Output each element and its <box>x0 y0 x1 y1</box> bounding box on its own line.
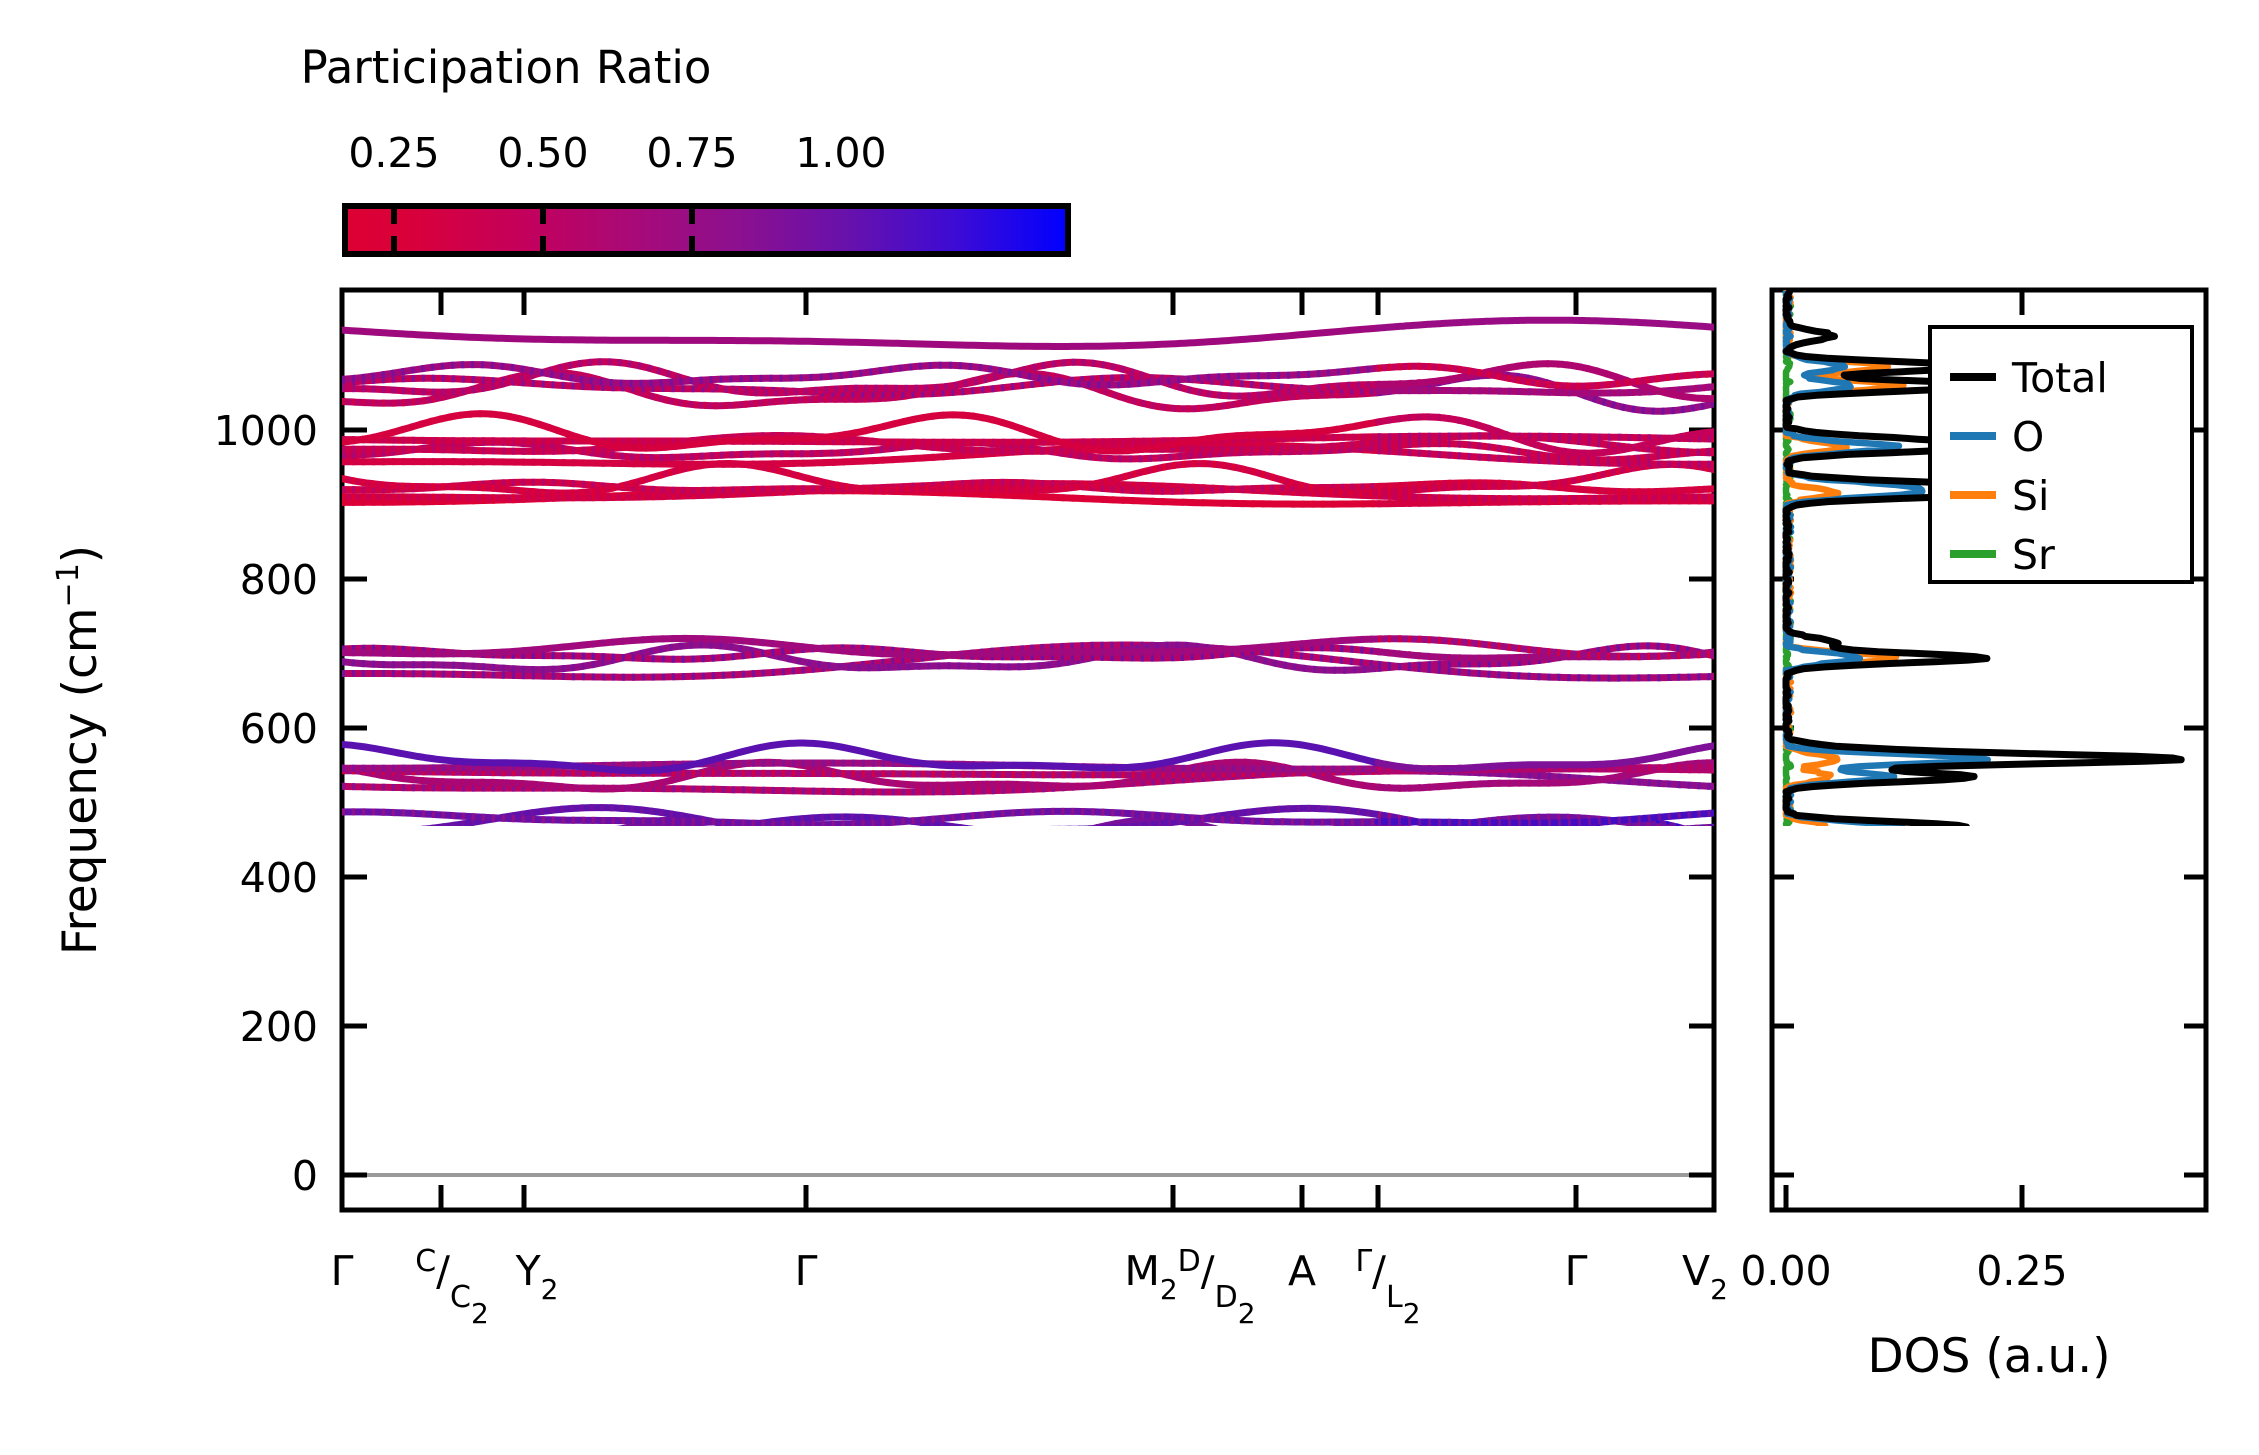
xtick-c-c2: C/C2 <box>415 1244 489 1330</box>
band-ylabel-tail: ) <box>53 545 108 563</box>
xtick-m2-d-d2: M2D/D2 <box>1124 1244 1255 1330</box>
dos-legend[interactable]: Total O Si Sr <box>1930 327 2192 582</box>
colorbar-tick-0: 0.25 <box>348 129 439 177</box>
band-ylabel-sup: −1 <box>51 563 86 607</box>
band-x-ticklabels: Γ C/C2 Y2 Γ M2D/D2 A Γ/L2 Γ V2 <box>331 1244 1728 1330</box>
colorbar-tick-2: 0.75 <box>646 129 737 177</box>
xtick-gamma-2: Γ <box>795 1247 818 1295</box>
dos-xlabel: DOS (a.u.) <box>1867 1329 2110 1384</box>
band-ytick-0: 0 <box>292 1152 318 1200</box>
legend-label-si: Si <box>2012 472 2049 520</box>
xtick-gamma-3: Γ <box>1565 1247 1588 1295</box>
xtick-a: A <box>1288 1247 1316 1295</box>
band-ytick-200: 200 <box>240 1003 318 1051</box>
band-panel: 0 200 400 600 800 1000 Frequency (cm−1) <box>51 290 1728 1330</box>
legend-label-sr: Sr <box>2012 531 2055 579</box>
colorbar-title: Participation Ratio <box>301 41 712 94</box>
band-ytick-1000: 1000 <box>214 407 318 455</box>
xtick-y2: Y2 <box>515 1247 559 1306</box>
legend-label-o: O <box>2012 413 2044 461</box>
dos-panel: 0.00 0.25 DOS (a.u.) Total O Si <box>1740 290 2259 1384</box>
svg-text:Frequency (cm−1): Frequency (cm−1) <box>51 545 108 955</box>
legend-label-total: Total <box>2011 354 2108 402</box>
xtick-gamma-l2: Γ/L2 <box>1355 1244 1420 1330</box>
band-ytick-400: 400 <box>240 854 318 902</box>
colorbar-tick-3: 1.00 <box>795 129 886 177</box>
colorbar-group: Participation Ratio 0.25 0.50 0.75 1.00 <box>301 41 1068 254</box>
colorbar-ticklabels: 0.25 0.50 0.75 1.00 <box>348 129 886 177</box>
xtick-gamma-1: Γ <box>331 1247 354 1295</box>
band-ylabel-base: Frequency (cm <box>53 607 108 955</box>
band-ytick-600: 600 <box>240 705 318 753</box>
figure-canvas: Participation Ratio 0.25 0.50 0.75 1.00 <box>0 0 2259 1455</box>
dos-xtick-1: 0.25 <box>1976 1247 2067 1295</box>
colorbar-tick-1: 0.50 <box>497 129 588 177</box>
band-ytick-800: 800 <box>240 556 318 604</box>
band-ylabel-group: Frequency (cm−1) <box>51 545 108 955</box>
dos-xtick-0: 0.00 <box>1740 1247 1831 1295</box>
xtick-v2: V2 <box>1682 1247 1728 1306</box>
figure-svg: Participation Ratio 0.25 0.50 0.75 1.00 <box>0 0 2259 1455</box>
colorbar-gradient <box>345 206 1068 254</box>
